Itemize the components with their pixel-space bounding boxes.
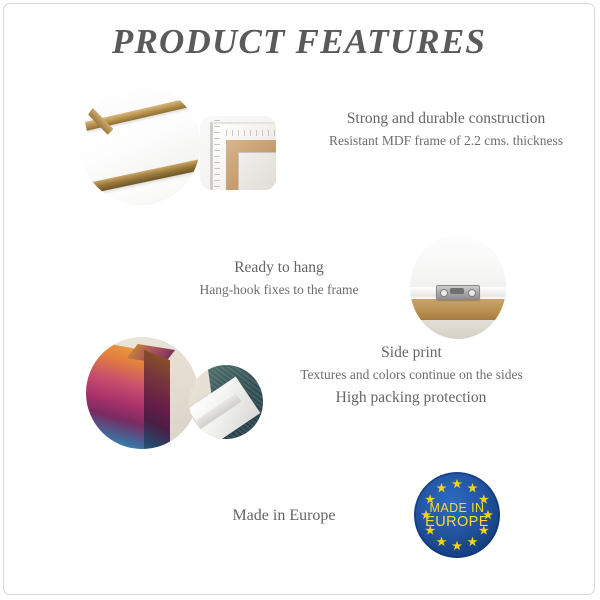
side-print-canvas-photo bbox=[86, 337, 198, 449]
feature-heading-hang: Ready to hang bbox=[152, 257, 406, 279]
frame-corner-photo bbox=[80, 85, 200, 205]
product-features-card: PRODUCT FEATURES Strong and durable cons… bbox=[3, 3, 595, 595]
feature-subtext-durable: Resistant MDF frame of 2.2 cms. thicknes… bbox=[296, 130, 595, 151]
frame-corner-detail-photo bbox=[200, 116, 276, 190]
eu-badge: MADE IN EUROPE bbox=[413, 471, 501, 559]
feature-heading-side-print: Side print bbox=[259, 342, 564, 364]
eu-badge-line2: EUROPE bbox=[425, 514, 489, 530]
eu-badge-line1: MADE IN bbox=[430, 501, 485, 515]
feature-heading-made-in-europe: Made in Europe bbox=[184, 507, 384, 525]
feature-subtext-side-print: Textures and colors continue on the side… bbox=[259, 364, 564, 385]
feature-text-durable: Strong and durable construction Resistan… bbox=[296, 108, 595, 151]
page-title: PRODUCT FEATURES bbox=[4, 22, 594, 62]
hang-hook-photo bbox=[410, 235, 506, 339]
feature-heading-packing: High packing protection bbox=[266, 389, 556, 407]
feature-subtext-hang: Hang-hook fixes to the frame bbox=[152, 279, 406, 300]
feature-heading-durable: Strong and durable construction bbox=[296, 108, 595, 130]
feature-text-side-print: Side print Textures and colors continue … bbox=[259, 342, 564, 385]
packing-foam-corner-photo bbox=[189, 365, 263, 439]
feature-text-hang: Ready to hang Hang-hook fixes to the fra… bbox=[152, 257, 406, 300]
